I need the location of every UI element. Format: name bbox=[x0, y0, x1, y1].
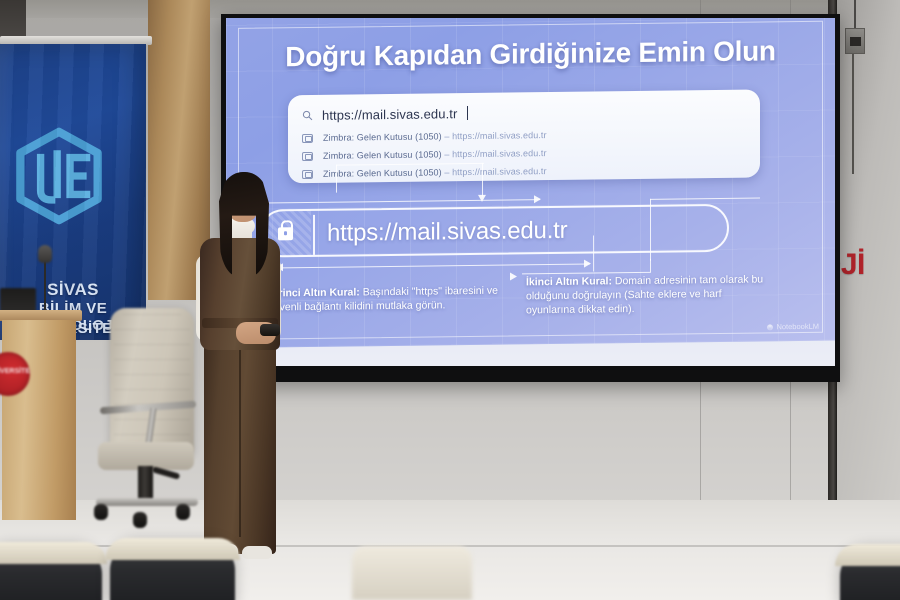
dimension-arrow-right-top bbox=[534, 195, 541, 203]
conference-room-scene: OJİ SİVAS BİLİM VE TEKNOLOJİ ÜNİVERSİTES… bbox=[0, 0, 900, 600]
note-2-arrow bbox=[510, 272, 517, 280]
office-chair-caster bbox=[133, 512, 147, 528]
suggestion-url: https://mail.sivas.edu.tr bbox=[452, 130, 547, 141]
dimension-line-right-vertical bbox=[650, 199, 651, 261]
presenter-trouser-seam bbox=[239, 332, 241, 537]
wall-device-cable bbox=[854, 0, 856, 30]
url-pill-text: https://mail.sivas.edu.tr bbox=[327, 217, 567, 248]
presentation-slide: Doğru Kapıdan Girdiğinize Emin Olun http… bbox=[226, 18, 835, 348]
suggestion-sep: – bbox=[442, 131, 452, 141]
notebooklm-watermark: NotebookLM bbox=[767, 322, 819, 332]
search-input-value: https://mail.sivas.edu.tr bbox=[322, 106, 457, 123]
suggestion-title: Zimbra: Gelen Kutusu (1050) bbox=[323, 131, 442, 142]
history-icon bbox=[302, 151, 313, 160]
watermark-text: NotebookLM bbox=[776, 322, 819, 332]
sivas-university-hexagon-logo bbox=[13, 126, 105, 226]
wooden-lectern bbox=[2, 320, 76, 520]
suggestion-sep: – bbox=[442, 167, 452, 177]
url-address-pill[interactable]: https://mail.sivas.edu.tr bbox=[259, 204, 729, 258]
wall-mounted-sensor-icon bbox=[845, 28, 865, 54]
foreground-seat-right bbox=[840, 550, 900, 600]
note-2-elbow-vertical bbox=[650, 259, 651, 273]
suggestion-title: Zimbra: Gelen Kutusu (1050) bbox=[323, 149, 442, 160]
lectern-seal-text: ÜNİVERSİTESİ bbox=[0, 368, 30, 375]
browser-search-box[interactable]: https://mail.sivas.edu.tr Zimbra: Gelen … bbox=[288, 89, 760, 183]
microphone-stand bbox=[44, 255, 46, 315]
dimension-arrow-right-bottom bbox=[584, 260, 591, 268]
search-icon bbox=[302, 109, 313, 120]
suggestion-url: https://mail.sivas.edu.tr bbox=[452, 148, 547, 159]
office-chair-gas-column bbox=[138, 466, 153, 502]
projection-screen-surface: Doğru Kapıdan Girdiğinize Emin Olun http… bbox=[226, 18, 835, 366]
wall-device-cable-lower bbox=[852, 54, 854, 174]
pill-divider bbox=[313, 215, 315, 255]
office-chair-caster bbox=[94, 504, 108, 520]
presentation-clicker-icon bbox=[260, 324, 280, 336]
history-icon bbox=[302, 169, 313, 178]
golden-rule-2-label: İkinci Altın Kural: bbox=[526, 275, 612, 288]
foreground-seat-left bbox=[0, 548, 102, 600]
foreground-seat-center bbox=[110, 544, 235, 600]
history-icon bbox=[302, 133, 313, 142]
suggestion-sep: – bbox=[442, 149, 452, 159]
golden-rule-1-note: Birinci Altın Kural: Başındaki "https" i… bbox=[268, 285, 498, 316]
golden-rule-2-note: İkinci Altın Kural: Domain adresinin tam… bbox=[526, 273, 764, 317]
connector-line-vertical-left bbox=[336, 165, 337, 193]
suggestion-title: Zimbra: Gelen Kutusu (1050) bbox=[323, 167, 442, 178]
text-caret bbox=[467, 106, 468, 120]
connector-line-vertical-right bbox=[482, 163, 483, 197]
background-side-chair bbox=[352, 546, 472, 600]
microphone-icon bbox=[38, 245, 52, 263]
presenter-speaker bbox=[186, 172, 298, 572]
presenter-shoe-right bbox=[242, 546, 272, 559]
notebooklm-logo-icon bbox=[767, 324, 773, 330]
search-input-row[interactable]: https://mail.sivas.edu.tr bbox=[302, 102, 468, 126]
suggestion-url: https://mail.sivas.edu.tr bbox=[452, 166, 547, 177]
measure-tick-url-end bbox=[593, 236, 594, 272]
